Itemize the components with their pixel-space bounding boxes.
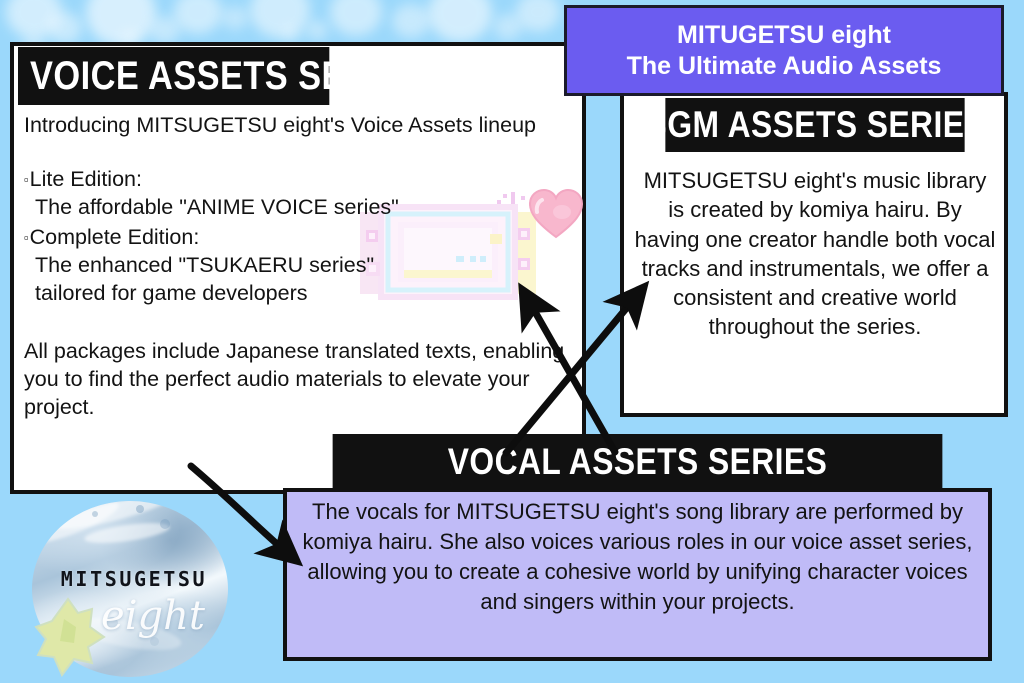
bgm-assets-title: BGM ASSETS SERIES <box>665 98 964 152</box>
list-item: ▫Complete Edition: The enhanced "TSUKAER… <box>24 224 572 308</box>
vocal-assets-body: The vocals for MITSUGETSU eight's song l… <box>295 497 980 617</box>
brand-banner: MITUGETSU eight The Ultimate Audio Asset… <box>564 5 1004 96</box>
bgm-body-text: MITSUGETSU eight's music library is crea… <box>634 166 996 342</box>
voice-intro-text: Introducing MITSUGETSU eight's Voice Ass… <box>24 112 572 140</box>
vocal-assets-title: VOCAL ASSETS SERIES <box>333 434 943 490</box>
voice-item-detail: The affordable "ANIME VOICE series" <box>24 194 572 222</box>
poster-canvas: MITUGETSU eight The Ultimate Audio Asset… <box>0 0 1024 683</box>
voice-assets-title: VOICE ASSETS SERIES <box>18 47 329 105</box>
bgm-assets-body: MITSUGETSU eight's music library is crea… <box>634 166 996 342</box>
list-item: ▫Lite Edition: The affordable "ANIME VOI… <box>24 166 572 222</box>
brand-banner-line1: MITUGETSU eight <box>677 20 891 51</box>
voice-item-label: Complete Edition: <box>30 225 200 249</box>
mitsugetsu-logo: MITSUGETSU eight <box>32 501 232 683</box>
voice-item-detail: The enhanced "TSUKAERU series" <box>24 252 572 280</box>
bullet-icon: ▫ <box>24 172 29 187</box>
voice-outro-text: All packages include Japanese translated… <box>24 338 572 422</box>
vocal-body-text: The vocals for MITSUGETSU eight's song l… <box>295 497 980 617</box>
voice-assets-body: Introducing MITSUGETSU eight's Voice Ass… <box>24 112 572 421</box>
voice-edition-list: ▫Lite Edition: The affordable "ANIME VOI… <box>24 166 572 308</box>
logo-subtext: eight <box>78 593 228 639</box>
logo-wordmark: MITSUGETSU <box>44 567 224 591</box>
voice-item-label: Lite Edition: <box>30 167 142 191</box>
voice-item-detail-2: tailored for game developers <box>24 280 572 308</box>
bullet-icon: ▫ <box>24 230 29 245</box>
brand-banner-line2: The Ultimate Audio Assets <box>627 51 942 82</box>
